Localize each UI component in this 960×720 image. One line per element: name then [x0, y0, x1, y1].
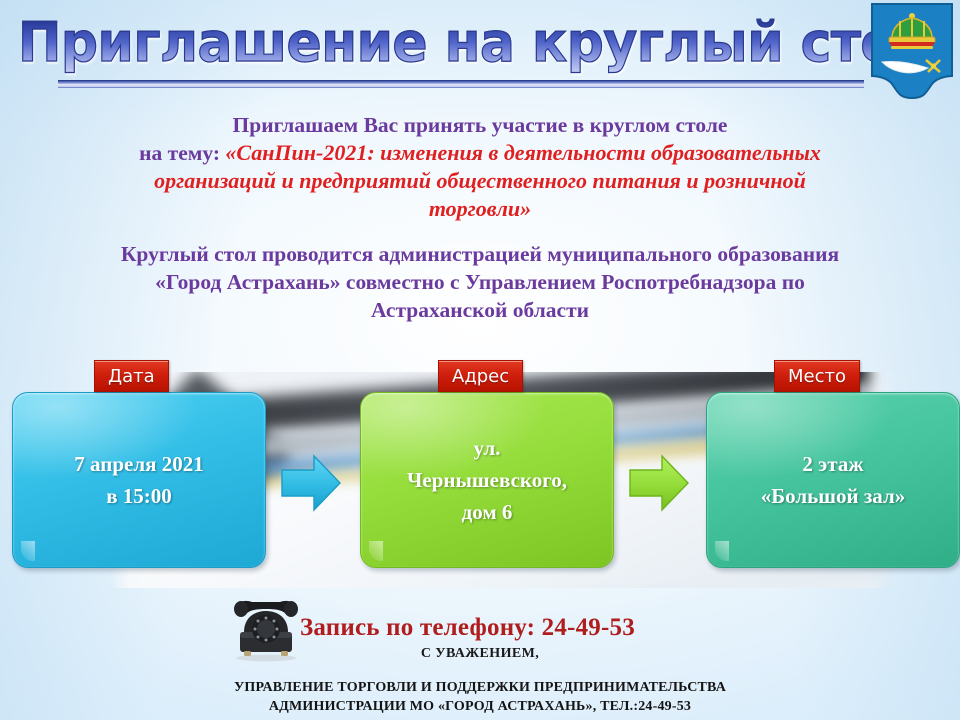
organizers-paragraph: Круглый стол проводится администрацией м… [120, 240, 840, 324]
invitation-paragraph: Приглашаем Вас принять участие в круглом… [110, 112, 850, 223]
footer-line-1: УПРАВЛЕНИЕ ТОРГОВЛИ И ПОДДЕРЖКИ ПРЕДПРИН… [234, 680, 726, 695]
card-badge-venue: Место [774, 360, 860, 392]
roundtable-topic: «СанПин-2021: изменения в деятельности о… [154, 140, 821, 221]
regards-line: С УВАЖЕНИЕМ, [0, 646, 960, 662]
card-body-address: ул.Чернышевского,дом 6 [360, 392, 614, 568]
arrow-right-icon [626, 452, 692, 514]
info-card-venue: Место 2 этаж«Большой зал» [706, 358, 960, 573]
card-value-address: ул.Чернышевского,дом 6 [393, 432, 581, 528]
title-underline-bar [58, 80, 864, 88]
card-value-venue: 2 этаж«Большой зал» [747, 448, 919, 512]
invitation-lead-line2: на тему: [139, 141, 220, 165]
card-badge-address: Адрес [438, 360, 523, 392]
astrakhan-coat-of-arms-icon [870, 2, 954, 106]
arrow-right-icon [278, 452, 344, 514]
footer-line-2: АДМИНИСТРАЦИИ МО «ГОРОД АСТРАХАНЬ», ТЕЛ.… [269, 699, 691, 714]
info-card-address: Адрес ул.Чернышевского,дом 6 [360, 358, 616, 573]
page-title: Приглашение на круглый стол! [18, 8, 882, 78]
info-cards-row: Дата 7 апреля 2021в 15:00 Адрес ул.Черны… [0, 358, 960, 573]
card-value-date: 7 апреля 2021в 15:00 [60, 448, 217, 512]
info-card-date: Дата 7 апреля 2021в 15:00 [12, 358, 268, 573]
card-badge-date: Дата [94, 360, 169, 392]
call-to-register-line: Запись по телефону: 24-49-53 [300, 614, 720, 642]
card-body-date: 7 апреля 2021в 15:00 [12, 392, 266, 568]
card-body-venue: 2 этаж«Большой зал» [706, 392, 960, 568]
invitation-lead: Приглашаем Вас принять участие в круглом… [233, 113, 728, 137]
footer-department: УПРАВЛЕНИЕ ТОРГОВЛИ И ПОДДЕРЖКИ ПРЕДПРИН… [0, 678, 960, 716]
